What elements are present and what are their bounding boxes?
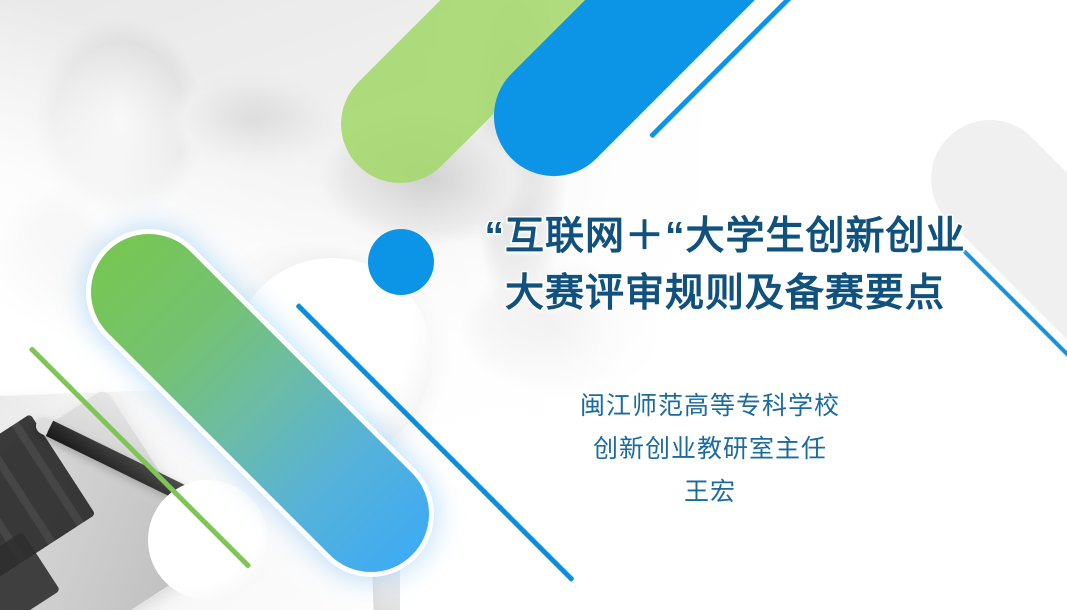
slide-title: “互联网＋“大学生创新创业 大赛评审规则及备赛要点 bbox=[420, 208, 1030, 322]
slide-subtitle: 闽江师范高等专科学校 创新创业教研室主任 王宏 bbox=[450, 385, 970, 514]
white-circle-small-decor bbox=[148, 480, 268, 600]
subtitle-organization: 闽江师范高等专科学校 bbox=[450, 385, 970, 428]
presentation-slide: “互联网＋“大学生创新创业 大赛评审规则及备赛要点 闽江师范高等专科学校 创新创… bbox=[0, 0, 1067, 610]
subtitle-role: 创新创业教研室主任 bbox=[450, 428, 970, 471]
subtitle-presenter-name: 王宏 bbox=[450, 471, 970, 514]
slide-title-line-1: “互联网＋“大学生创新创业 bbox=[420, 208, 1030, 265]
slide-title-line-2: 大赛评审规则及备赛要点 bbox=[420, 265, 1030, 322]
